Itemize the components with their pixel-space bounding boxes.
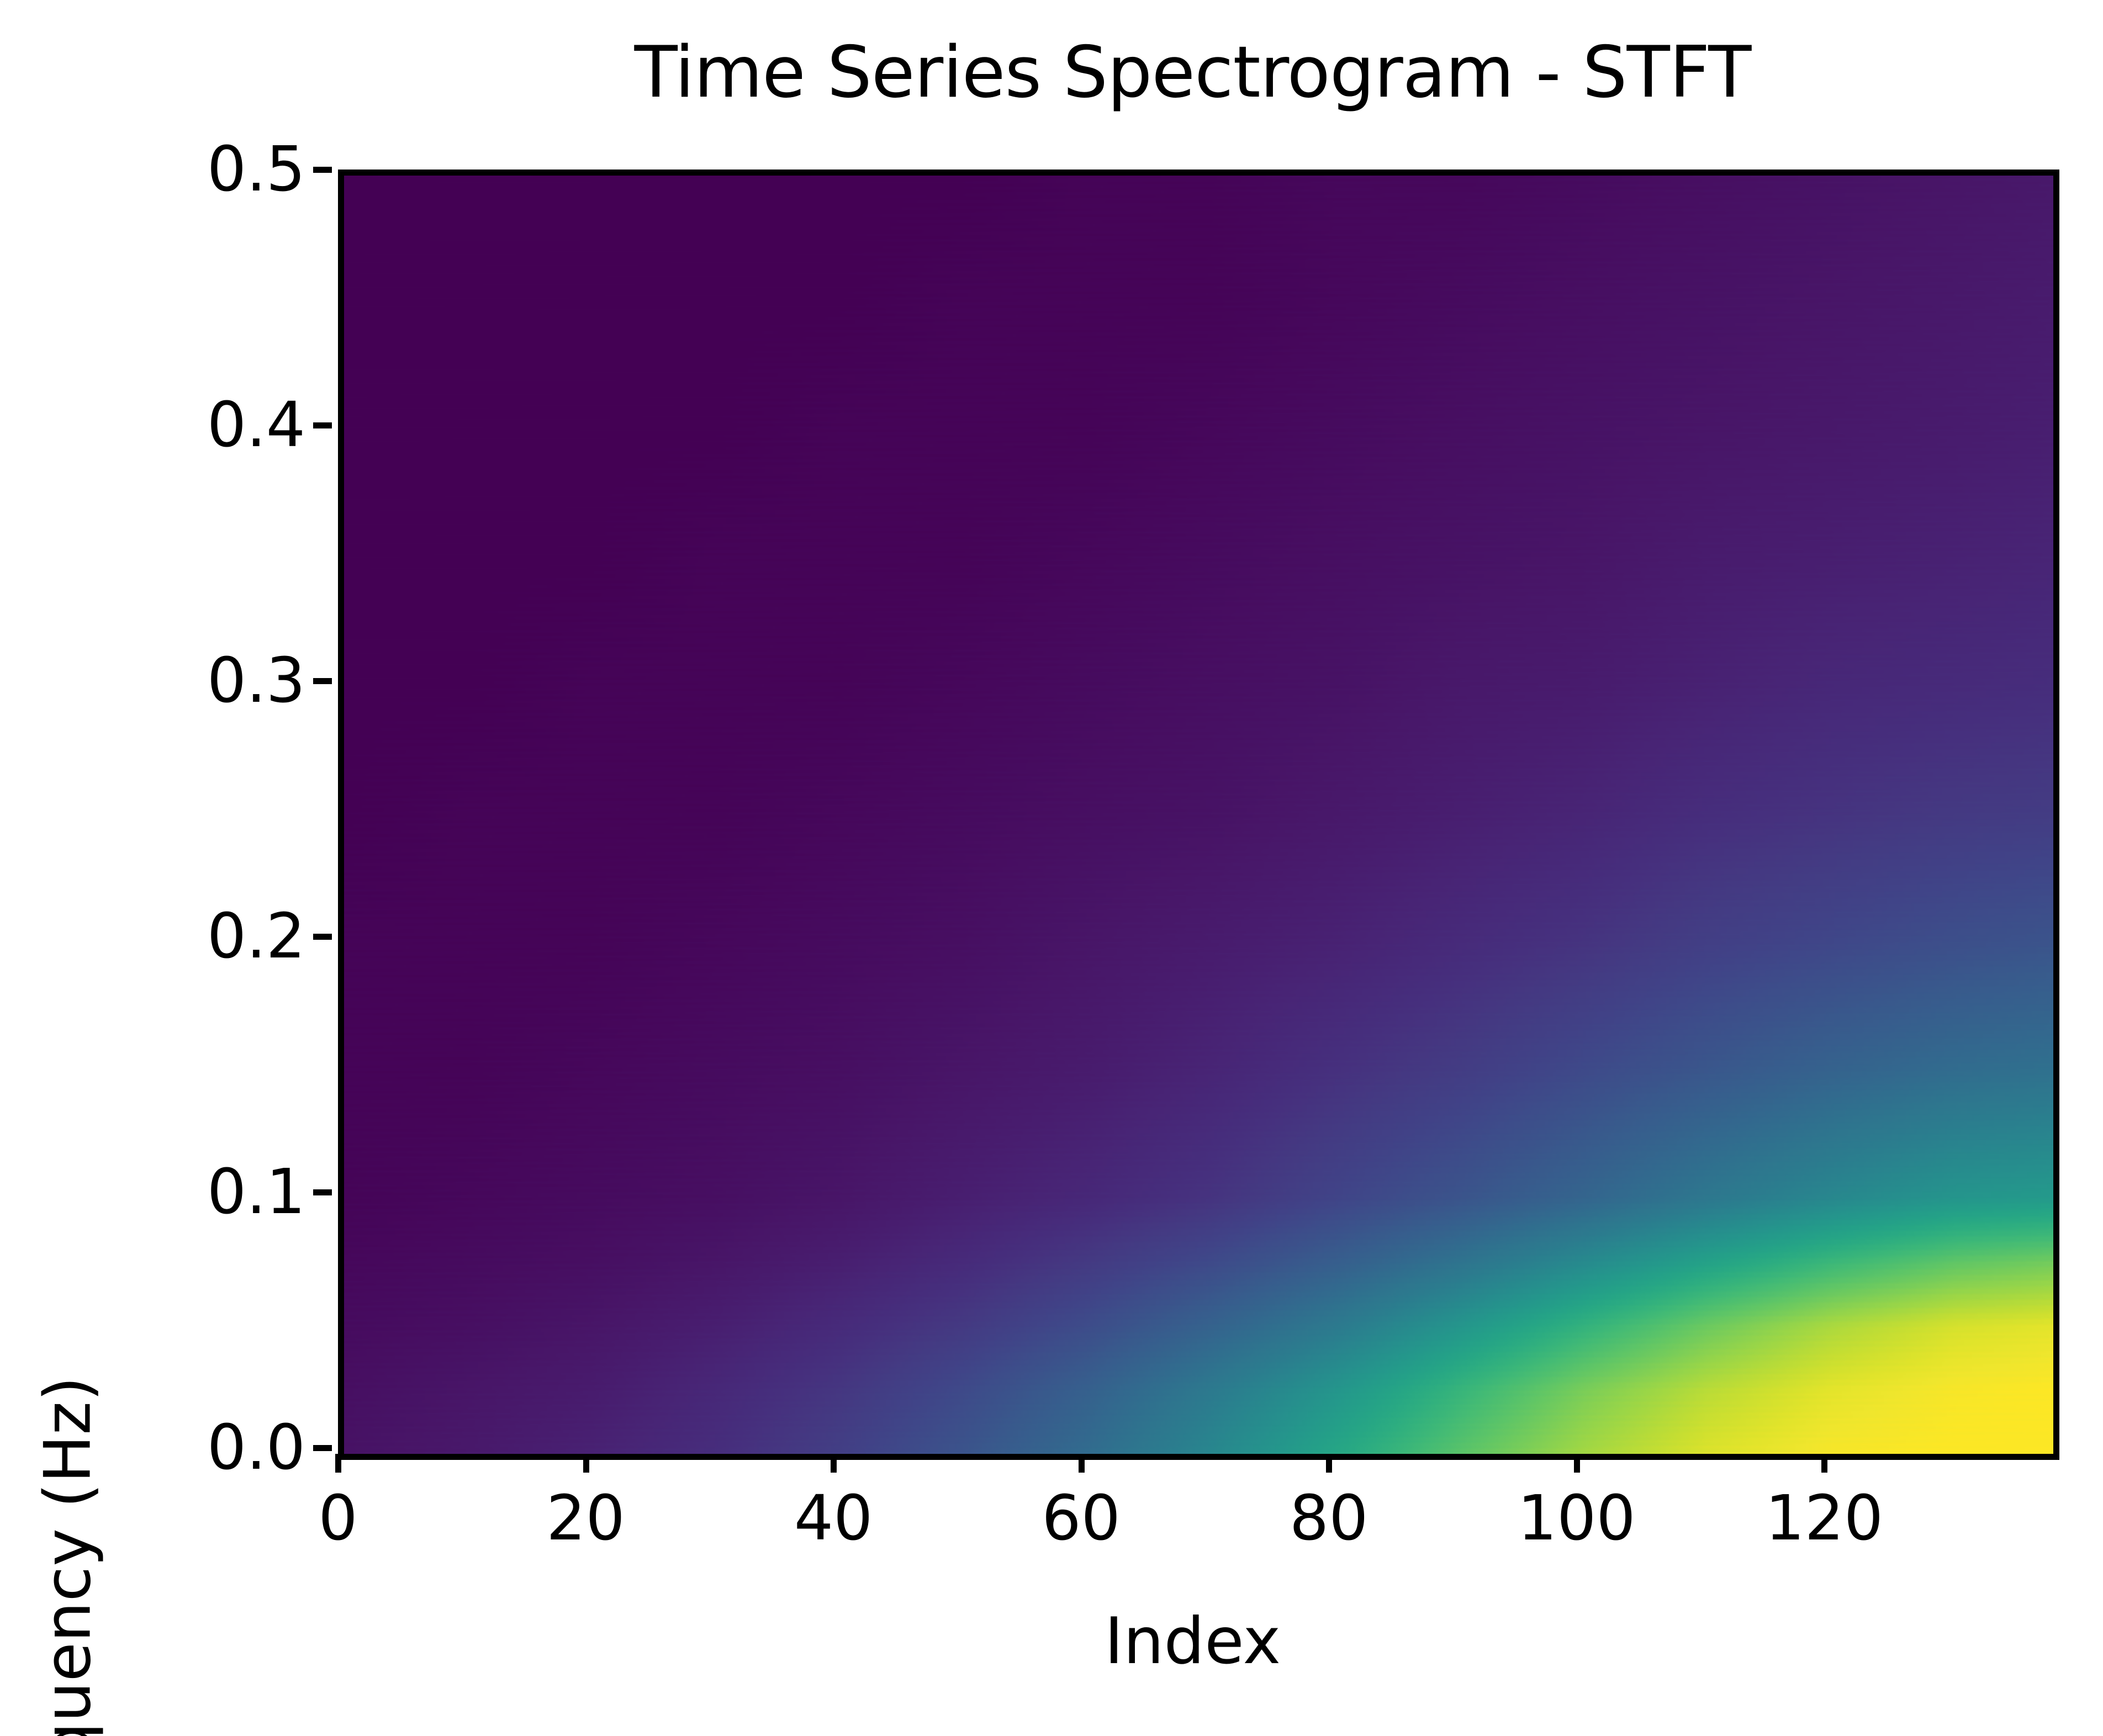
y-tick-label: 0.2 (207, 901, 305, 972)
x-tick-mark (1326, 1454, 1332, 1473)
x-tick-label: 120 (1765, 1483, 1883, 1554)
plot-area (344, 176, 2053, 1454)
y-tick-mark (313, 167, 332, 173)
x-tick-mark (1821, 1454, 1827, 1473)
x-tick-mark (831, 1454, 837, 1473)
y-tick-mark (313, 678, 332, 684)
x-tick-mark (1574, 1454, 1580, 1473)
x-tick-label: 20 (546, 1483, 625, 1554)
y-tick-mark (313, 1445, 332, 1451)
y-tick-label: 0.0 (207, 1412, 305, 1484)
x-tick-label: 40 (794, 1483, 873, 1554)
x-tick-mark (335, 1454, 341, 1473)
y-axis-label: Frequency (Hz) (31, 1377, 105, 1736)
x-axis-label: Index (338, 1604, 2047, 1679)
x-tick-label: 60 (1042, 1483, 1121, 1554)
spectrogram-figure: Time Series Spectrogram - STFT 0.00.10.2… (0, 0, 2103, 1736)
x-tick-mark (583, 1454, 589, 1473)
y-tick-mark (313, 934, 332, 940)
x-tick-label: 100 (1518, 1483, 1636, 1554)
x-tick-mark (1079, 1454, 1085, 1473)
y-tick-mark (313, 422, 332, 428)
y-tick-label: 0.3 (207, 645, 305, 717)
plot-frame (338, 170, 2059, 1460)
page-title: Time Series Spectrogram - STFT (338, 32, 2047, 113)
y-tick-mark (313, 1189, 332, 1195)
x-tick-label: 0 (318, 1483, 357, 1554)
y-tick-label: 0.5 (207, 134, 305, 205)
y-tick-label: 0.4 (207, 389, 305, 461)
x-tick-label: 80 (1290, 1483, 1368, 1554)
y-tick-label: 0.1 (207, 1156, 305, 1228)
spectrogram-heatmap (344, 176, 2053, 1454)
